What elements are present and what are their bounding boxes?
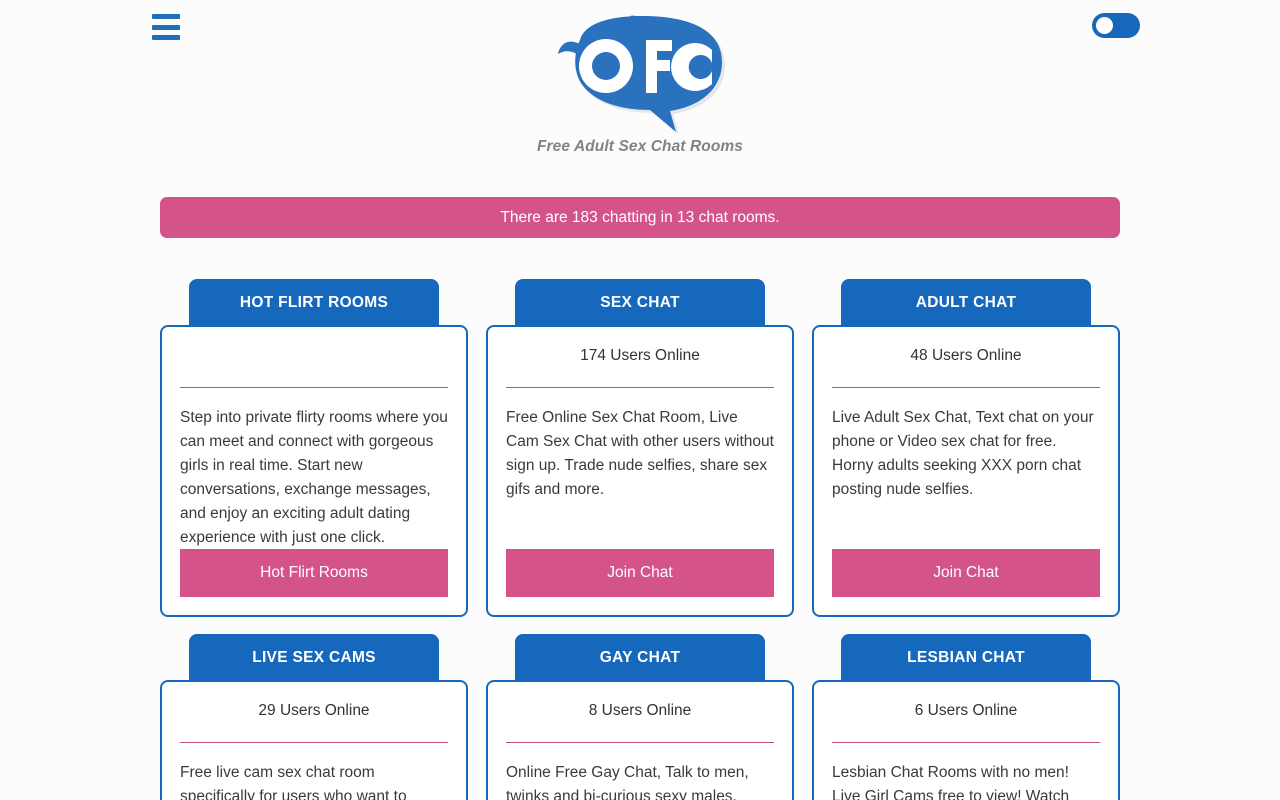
chat-room-card: LIVE SEX CAMS 29 Users Online Free live …	[160, 632, 468, 800]
chat-room-grid: HOT FLIRT ROOMS Step into private flirty…	[160, 277, 1120, 800]
site-tagline: Free Adult Sex Chat Rooms	[0, 138, 1280, 156]
card-title-header[interactable]: SEX CHAT	[515, 279, 765, 327]
join-chat-button[interactable]: Join Chat	[506, 549, 774, 597]
card-body: Step into private flirty rooms where you…	[160, 325, 468, 617]
card-divider	[506, 742, 774, 743]
card-title-header[interactable]: LESBIAN CHAT	[841, 634, 1091, 682]
status-banner: There are 183 chatting in 13 chat rooms.	[160, 197, 1120, 238]
card-divider	[180, 387, 448, 388]
users-online-count: 8 Users Online	[506, 696, 774, 726]
card-body: 6 Users Online Lesbian Chat Rooms with n…	[812, 680, 1120, 800]
users-online-count: 174 Users Online	[506, 341, 774, 371]
users-online-count: 29 Users Online	[180, 696, 448, 726]
users-online-count	[180, 341, 448, 371]
ofc-speech-bubble-logo[interactable]	[550, 14, 730, 136]
card-description: Online Free Gay Chat, Talk to men, twink…	[506, 761, 774, 800]
card-description: Step into private flirty rooms where you…	[180, 406, 448, 549]
join-chat-button[interactable]: Join Chat	[832, 549, 1100, 597]
card-title-header[interactable]: GAY CHAT	[515, 634, 765, 682]
card-title-header[interactable]: LIVE SEX CAMS	[189, 634, 439, 682]
chat-room-card: SEX CHAT 174 Users Online Free Online Se…	[486, 277, 794, 617]
card-title-header[interactable]: ADULT CHAT	[841, 279, 1091, 327]
card-divider	[180, 742, 448, 743]
card-body: 29 Users Online Free live cam sex chat r…	[160, 680, 468, 800]
card-divider	[832, 387, 1100, 388]
card-description: Lesbian Chat Rooms with no men! Live Gir…	[832, 761, 1100, 800]
card-description: Free live cam sex chat room specifically…	[180, 761, 448, 800]
chat-room-card: HOT FLIRT ROOMS Step into private flirty…	[160, 277, 468, 617]
card-body: 8 Users Online Online Free Gay Chat, Tal…	[486, 680, 794, 800]
chat-room-card: LESBIAN CHAT 6 Users Online Lesbian Chat…	[812, 632, 1120, 800]
site-logo-block: Free Adult Sex Chat Rooms	[0, 14, 1280, 156]
join-chat-button[interactable]: Hot Flirt Rooms	[180, 549, 448, 597]
card-body: 48 Users Online Live Adult Sex Chat, Tex…	[812, 325, 1120, 617]
page-root: Free Adult Sex Chat Rooms There are 183 …	[0, 0, 1280, 800]
card-description: Free Online Sex Chat Room, Live Cam Sex …	[506, 406, 774, 549]
logo-letter-o-inner	[592, 52, 620, 80]
card-divider	[832, 742, 1100, 743]
card-title-header[interactable]: HOT FLIRT ROOMS	[189, 279, 439, 327]
card-divider	[506, 387, 774, 388]
chat-room-card: GAY CHAT 8 Users Online Online Free Gay …	[486, 632, 794, 800]
chat-room-card: ADULT CHAT 48 Users Online Live Adult Se…	[812, 277, 1120, 617]
card-description: Live Adult Sex Chat, Text chat on your p…	[832, 406, 1100, 549]
card-body: 174 Users Online Free Online Sex Chat Ro…	[486, 325, 794, 617]
logo-horn-left	[558, 42, 580, 56]
users-online-count: 48 Users Online	[832, 341, 1100, 371]
users-online-count: 6 Users Online	[832, 696, 1100, 726]
